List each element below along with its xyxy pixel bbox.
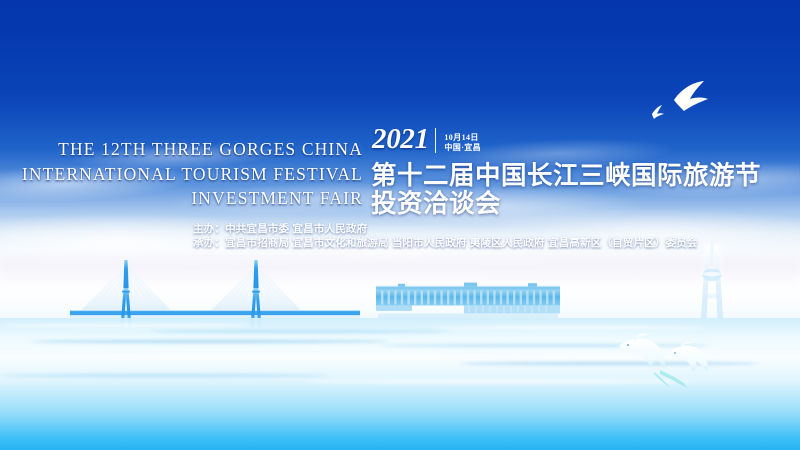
english-title-line-1: THE 12TH THREE GORGES CHINA bbox=[0, 137, 363, 162]
co-organizer-line: 承办：宜昌市招商局 宜昌市文化和旅游局 当阳市人民政府 夷陵区人民政府 宜昌高新… bbox=[193, 236, 698, 250]
chinese-title-line-2: 投资洽谈会 bbox=[371, 191, 501, 218]
festival-poster: THE 12TH THREE GORGES CHINA INTERNATIONA… bbox=[0, 0, 800, 450]
year-badge: 2021 10月14日 中国·宜昌 bbox=[372, 125, 481, 154]
english-title-line-3: INVESTMENT FAIR bbox=[0, 186, 363, 211]
poster-text-block: THE 12TH THREE GORGES CHINA INTERNATIONA… bbox=[0, 0, 800, 450]
year-divider bbox=[435, 128, 437, 153]
event-location: 中国·宜昌 bbox=[444, 143, 481, 153]
year-number: 2021 bbox=[372, 125, 429, 154]
chinese-title-line-1: 第十二届中国长江三峡国际旅游节 bbox=[371, 163, 761, 190]
english-title: THE 12TH THREE GORGES CHINA INTERNATIONA… bbox=[0, 137, 363, 211]
event-meta: 10月14日 中国·宜昌 bbox=[444, 133, 481, 154]
event-date: 10月14日 bbox=[444, 133, 481, 143]
english-title-line-2: INTERNATIONAL TOURISM FESTIVAL bbox=[0, 162, 363, 187]
organizer-line: 主办：中共宜昌市委 宜昌市人民政府 bbox=[193, 222, 367, 236]
